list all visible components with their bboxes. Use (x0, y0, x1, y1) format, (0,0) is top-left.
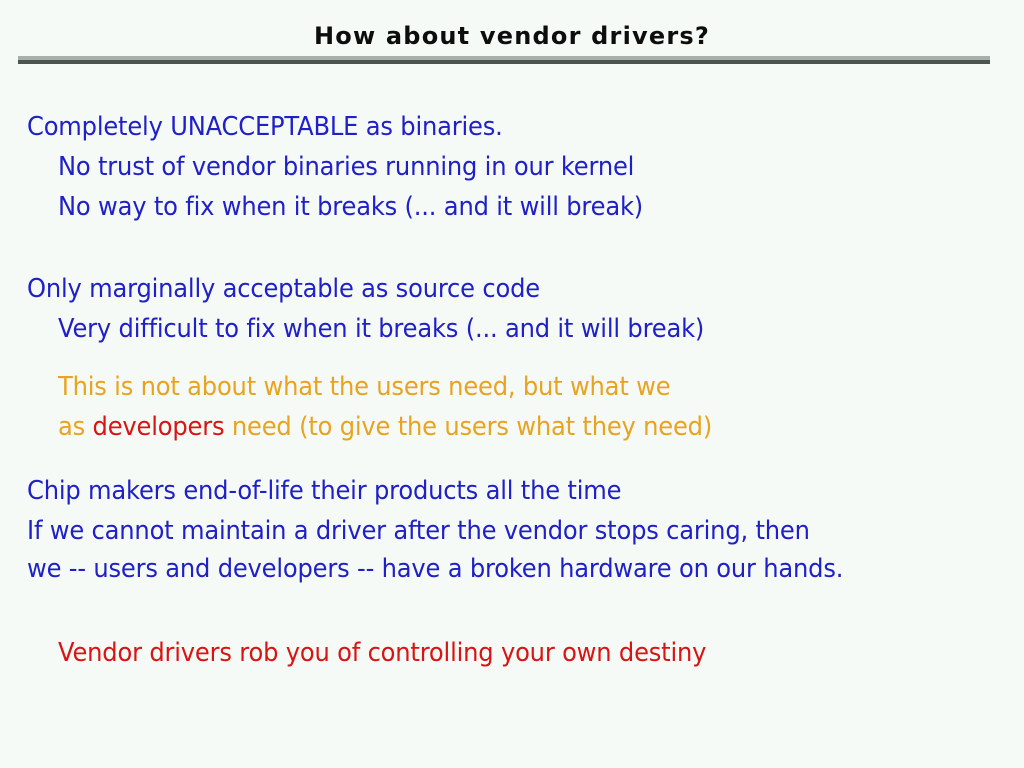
bullet-marginally-acceptable-as-source: Only marginally acceptable as source cod… (27, 276, 540, 302)
bullet-no-trust-of-vendor-binaries: No trust of vendor binaries running in o… (58, 154, 634, 180)
need-suffix-text: need (to give the users what they need) (224, 412, 712, 442)
page-title: How about vendor drivers? (0, 24, 1024, 48)
bullet-not-about-users-need: This is not about what the users need, b… (58, 374, 670, 400)
bullet-chip-makers-eol: Chip makers end-of-life their products a… (27, 478, 621, 504)
bullet-broken-hardware-on-our-hands: we -- users and developers -- have a bro… (27, 556, 843, 582)
bullet-cannot-maintain-driver: If we cannot maintain a driver after the… (27, 518, 810, 544)
bullet-as-developers-need: as developers need (to give the users wh… (58, 414, 712, 440)
bullet-vendor-drivers-rob-destiny: Vendor drivers rob you of controlling yo… (58, 640, 706, 666)
slide-canvas: How about vendor drivers? Completely UNA… (0, 0, 1024, 768)
developers-emphasis: developers (93, 412, 225, 442)
title-divider (18, 56, 990, 64)
bullet-unacceptable-as-binaries: Completely UNACCEPTABLE as binaries. (27, 114, 503, 140)
bullet-very-difficult-to-fix: Very difficult to fix when it breaks (..… (58, 316, 704, 342)
divider-shadow (18, 60, 990, 64)
bullet-no-way-to-fix: No way to fix when it breaks (... and it… (58, 194, 643, 220)
as-prefix-text: as (58, 412, 93, 442)
